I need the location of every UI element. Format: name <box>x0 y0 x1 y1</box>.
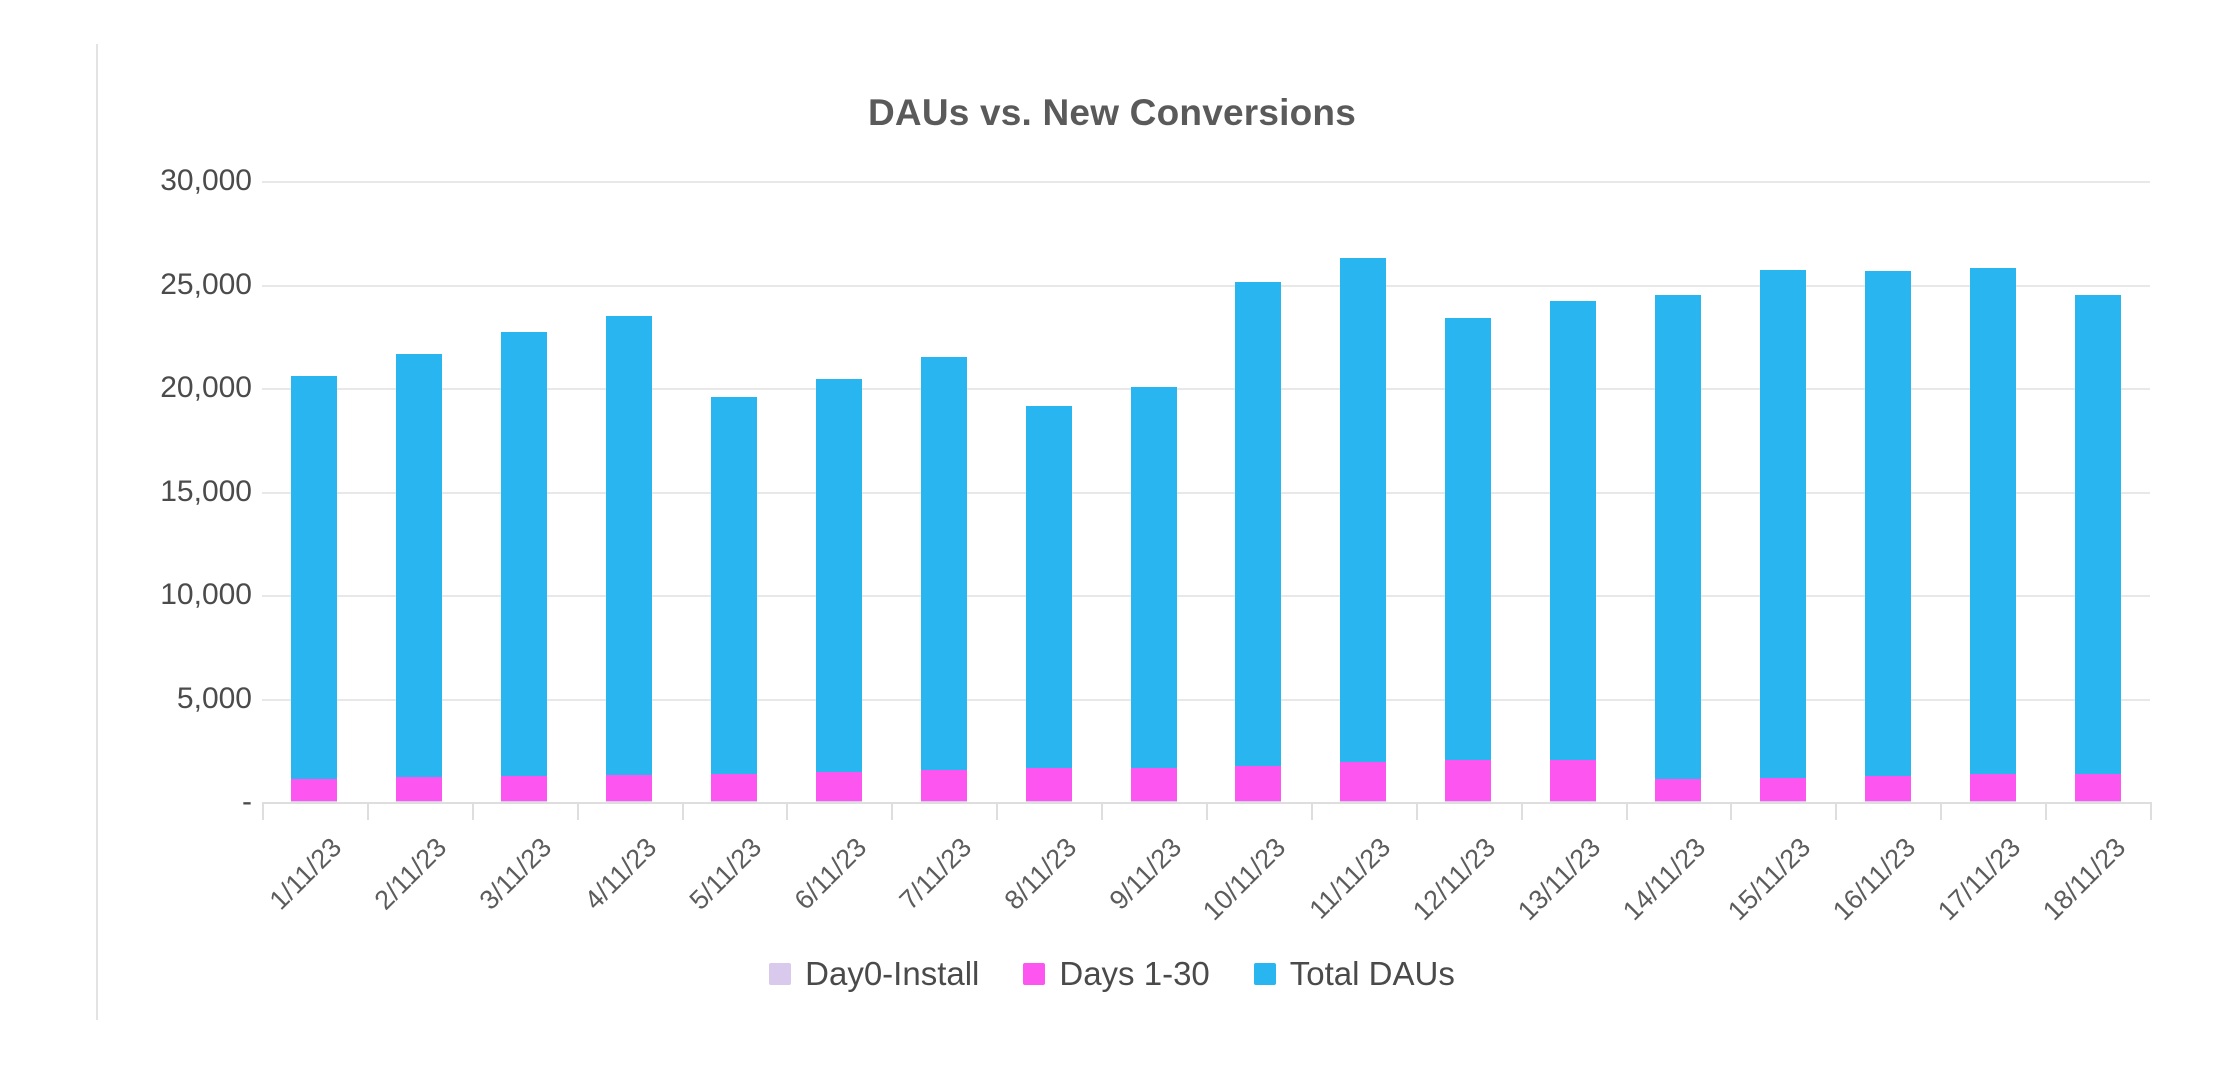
bar-group[interactable] <box>1970 268 2016 802</box>
bar-segment-total-daus[interactable] <box>1131 387 1177 768</box>
bar-group[interactable] <box>921 357 967 802</box>
bar-segment-days-1-30[interactable] <box>816 772 862 801</box>
y-axis-tick-label: 30,000 <box>160 164 252 198</box>
bar-segment-total-daus[interactable] <box>606 316 652 775</box>
bar-group[interactable] <box>816 379 862 802</box>
x-axis-tick <box>2045 802 2047 820</box>
legend-item-label: Total DAUs <box>1290 955 1455 993</box>
bar-segment-total-daus[interactable] <box>396 354 442 777</box>
bar-segment-days-1-30[interactable] <box>1655 779 1701 801</box>
chart-canvas: DAUs vs. New Conversions 30,00025,00020,… <box>0 0 2224 1084</box>
bar-group[interactable] <box>1340 258 1386 802</box>
bar-segment-days-1-30[interactable] <box>711 774 757 801</box>
legend-swatch-days-icon <box>1023 963 1045 985</box>
x-axis-tick <box>682 802 684 820</box>
bar-segment-days-1-30[interactable] <box>396 777 442 801</box>
bar-segment-total-daus[interactable] <box>1655 295 1701 779</box>
bar-segment-days-1-30[interactable] <box>1340 762 1386 800</box>
bar-group[interactable] <box>1445 318 1491 802</box>
x-axis-tick <box>786 802 788 820</box>
bar-segment-total-daus[interactable] <box>2075 295 2121 774</box>
x-axis-tick <box>1311 802 1313 820</box>
bar-segment-total-daus[interactable] <box>711 397 757 774</box>
bar-segment-days-1-30[interactable] <box>606 775 652 801</box>
bar-segment-total-daus[interactable] <box>1026 406 1072 768</box>
x-axis-tick <box>2150 802 2152 820</box>
x-axis-tick <box>996 802 998 820</box>
bar-segment-total-daus[interactable] <box>1235 282 1281 765</box>
bar-group[interactable] <box>291 376 337 802</box>
y-axis-tick-label: 25,000 <box>160 268 252 302</box>
x-axis-tick <box>891 802 893 820</box>
legend-item[interactable]: Day0-Install <box>769 955 979 993</box>
x-axis-tick <box>1521 802 1523 820</box>
legend-item[interactable]: Total DAUs <box>1254 955 1455 993</box>
bar-segment-total-daus[interactable] <box>816 379 862 772</box>
bar-group[interactable] <box>396 354 442 802</box>
bar-group[interactable] <box>1655 295 1701 802</box>
x-axis-tick <box>1626 802 1628 820</box>
bar-segment-days-1-30[interactable] <box>1865 776 1911 801</box>
bar-segment-days-1-30[interactable] <box>1760 778 1806 801</box>
x-axis-tick <box>367 802 369 820</box>
x-axis-tick <box>1940 802 1942 820</box>
page-title: DAUs vs. New Conversions <box>0 92 2224 134</box>
bar-group[interactable] <box>501 332 547 802</box>
bar-segment-days-1-30[interactable] <box>1550 760 1596 800</box>
bar-segment-total-daus[interactable] <box>1865 271 1911 776</box>
legend-swatch-total-icon <box>1254 963 1276 985</box>
bar-group[interactable] <box>1760 270 1806 802</box>
bar-segment-days-1-30[interactable] <box>1026 768 1072 801</box>
legend-item-label: Day0-Install <box>805 955 979 993</box>
bar-segment-days-1-30[interactable] <box>921 770 967 801</box>
y-axis-tick-label: 10,000 <box>160 578 252 612</box>
gridline <box>262 181 2150 183</box>
bar-group[interactable] <box>1026 406 1072 802</box>
bar-group[interactable] <box>711 397 757 802</box>
bar-segment-total-daus[interactable] <box>1970 268 2016 774</box>
legend-item-label: Days 1-30 <box>1059 955 1209 993</box>
x-axis-tick <box>1730 802 1732 820</box>
y-axis: 30,00025,00020,00015,00010,0005,000- <box>110 181 252 802</box>
bar-segment-days-1-30[interactable] <box>1445 760 1491 800</box>
bar-segment-days-1-30[interactable] <box>1235 766 1281 801</box>
bar-segment-total-daus[interactable] <box>1340 258 1386 763</box>
bar-segment-total-daus[interactable] <box>1550 301 1596 760</box>
y-axis-tick-label: - <box>242 785 252 819</box>
bar-group[interactable] <box>1131 387 1177 802</box>
bar-segment-total-daus[interactable] <box>1760 270 1806 778</box>
y-axis-tick-label: 15,000 <box>160 475 252 509</box>
bar-group[interactable] <box>1550 301 1596 802</box>
x-axis-tick <box>472 802 474 820</box>
x-axis-tick <box>577 802 579 820</box>
bar-group[interactable] <box>1235 282 1281 802</box>
bar-segment-days-1-30[interactable] <box>1970 774 2016 801</box>
bar-segment-total-daus[interactable] <box>501 332 547 776</box>
card-left-divider <box>96 44 98 1020</box>
bar-segment-days-1-30[interactable] <box>501 776 547 801</box>
x-axis: 1/11/232/11/233/11/234/11/235/11/236/11/… <box>262 802 2150 803</box>
bar-segment-total-daus[interactable] <box>291 376 337 779</box>
plot-area <box>262 181 2150 802</box>
bar-group[interactable] <box>2075 295 2121 802</box>
x-axis-tick <box>1101 802 1103 820</box>
x-axis-tick <box>1835 802 1837 820</box>
x-axis-tick <box>262 802 264 820</box>
x-axis-tick <box>1416 802 1418 820</box>
y-axis-tick-label: 5,000 <box>177 682 252 716</box>
bar-segment-total-daus[interactable] <box>1445 318 1491 761</box>
bar-group[interactable] <box>606 316 652 802</box>
legend-swatch-day0-icon <box>769 963 791 985</box>
bar-segment-days-1-30[interactable] <box>1131 768 1177 801</box>
y-axis-tick-label: 20,000 <box>160 371 252 405</box>
legend-item[interactable]: Days 1-30 <box>1023 955 1209 993</box>
bar-segment-days-1-30[interactable] <box>291 779 337 801</box>
bar-segment-days-1-30[interactable] <box>2075 774 2121 801</box>
bar-group[interactable] <box>1865 271 1911 802</box>
chart-legend: Day0-InstallDays 1-30Total DAUs <box>0 955 2224 993</box>
bar-segment-total-daus[interactable] <box>921 357 967 770</box>
x-axis-tick <box>1206 802 1208 820</box>
